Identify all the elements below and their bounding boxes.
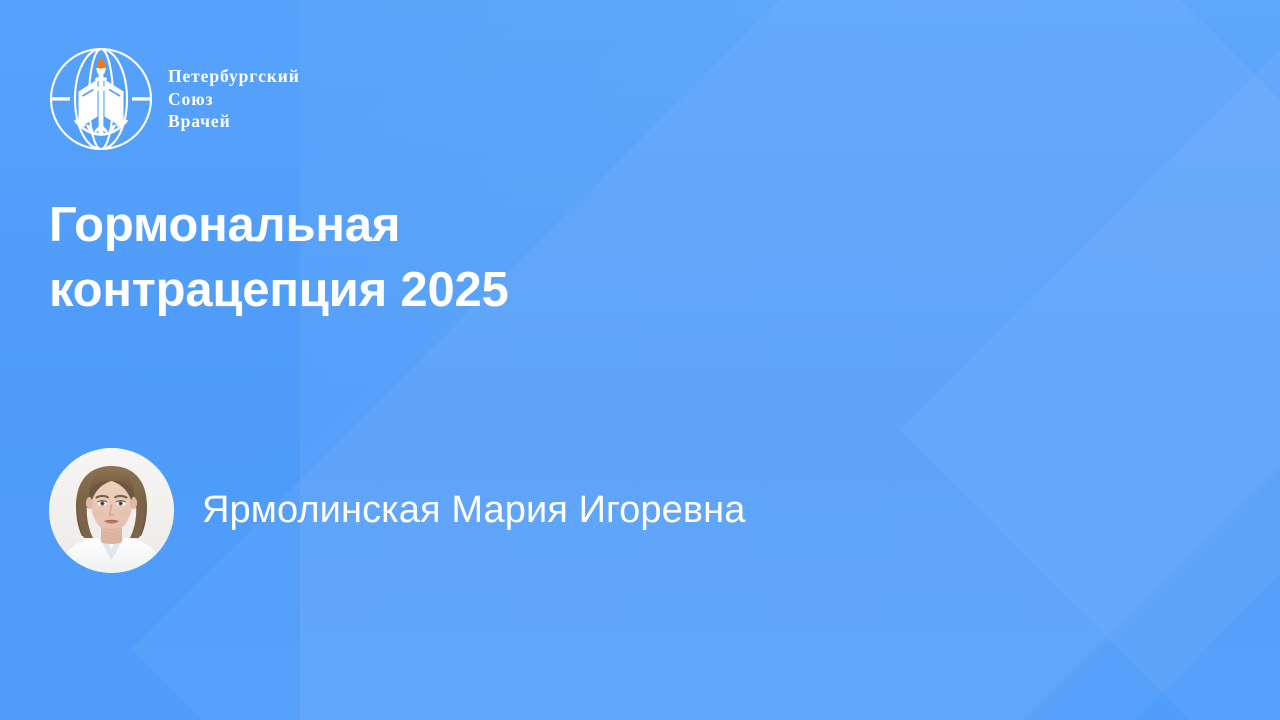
slide-title-line-2: контрацепция 2025: [49, 258, 749, 323]
logo-text-line-1: Петербургский: [168, 65, 300, 88]
organization-name: Петербургский Союз Врачей: [168, 65, 300, 134]
logo-text-line-3: Врачей: [168, 110, 300, 133]
title-slide: Петербургский Союз Врачей Гормональная к…: [0, 0, 1280, 720]
slide-title-line-1: Гормональная: [49, 193, 749, 258]
speaker-block: Ярмолинская Мария Игоревна: [49, 448, 745, 573]
union-emblem-icon: [48, 46, 154, 152]
speaker-portrait-photo: [49, 448, 174, 573]
torch-flame-icon: [97, 58, 105, 69]
speaker-name: Ярмолинская Мария Игоревна: [202, 490, 745, 532]
slide-title: Гормональная контрацепция 2025: [49, 193, 749, 323]
organization-logo: Петербургский Союз Врачей: [48, 46, 300, 152]
avatar: [49, 448, 174, 573]
logo-text-line-2: Союз: [168, 88, 300, 111]
